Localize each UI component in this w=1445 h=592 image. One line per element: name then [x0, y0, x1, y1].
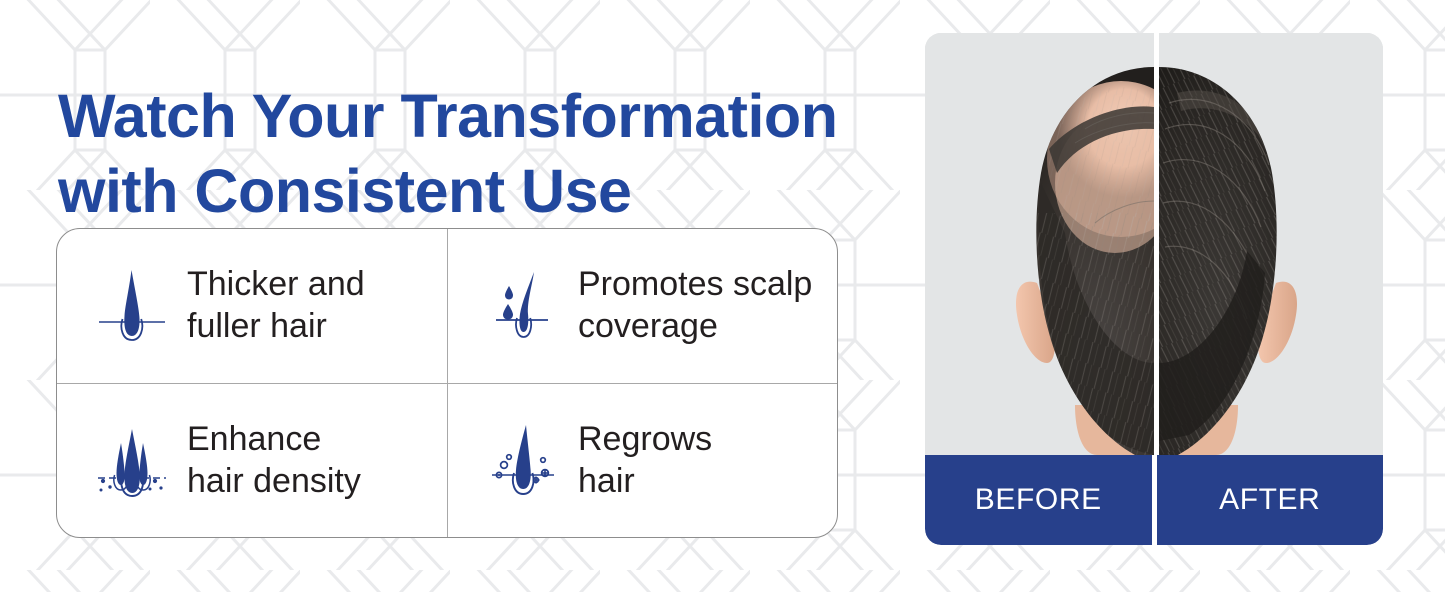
after-label: AFTER — [1157, 455, 1384, 545]
hair-follicle-density-icon — [95, 419, 169, 503]
before-label: BEFORE — [925, 455, 1152, 545]
hair-follicle-icon — [95, 264, 169, 348]
feature-label: Enhance hair density — [187, 419, 361, 503]
feature-item-thicker-fuller-hair[interactable]: Thicker and fuller hair — [57, 229, 447, 383]
hair-follicle-droplets-icon — [486, 264, 560, 348]
page-title: Watch Your Transformation with Consisten… — [58, 79, 878, 230]
features-card: Thicker and fuller hair Promotes scalp c… — [56, 228, 838, 538]
feature-item-promotes-scalp-coverage[interactable]: Promotes scalp coverage — [447, 229, 837, 383]
before-after-divider — [1154, 33, 1159, 455]
feature-label: Regrows hair — [578, 419, 712, 503]
feature-item-regrows-hair[interactable]: Regrows hair — [447, 383, 837, 537]
before-after-labels: BEFORE AFTER — [925, 455, 1383, 545]
feature-label: Promotes scalp coverage — [578, 264, 812, 348]
banner-gap — [1152, 455, 1157, 545]
feature-item-enhance-hair-density[interactable]: Enhance hair density — [57, 383, 447, 537]
before-after-panel: BEFORE AFTER — [925, 33, 1383, 545]
feature-label: Thicker and fuller hair — [187, 264, 365, 348]
hair-follicle-sparkle-icon — [486, 419, 560, 503]
